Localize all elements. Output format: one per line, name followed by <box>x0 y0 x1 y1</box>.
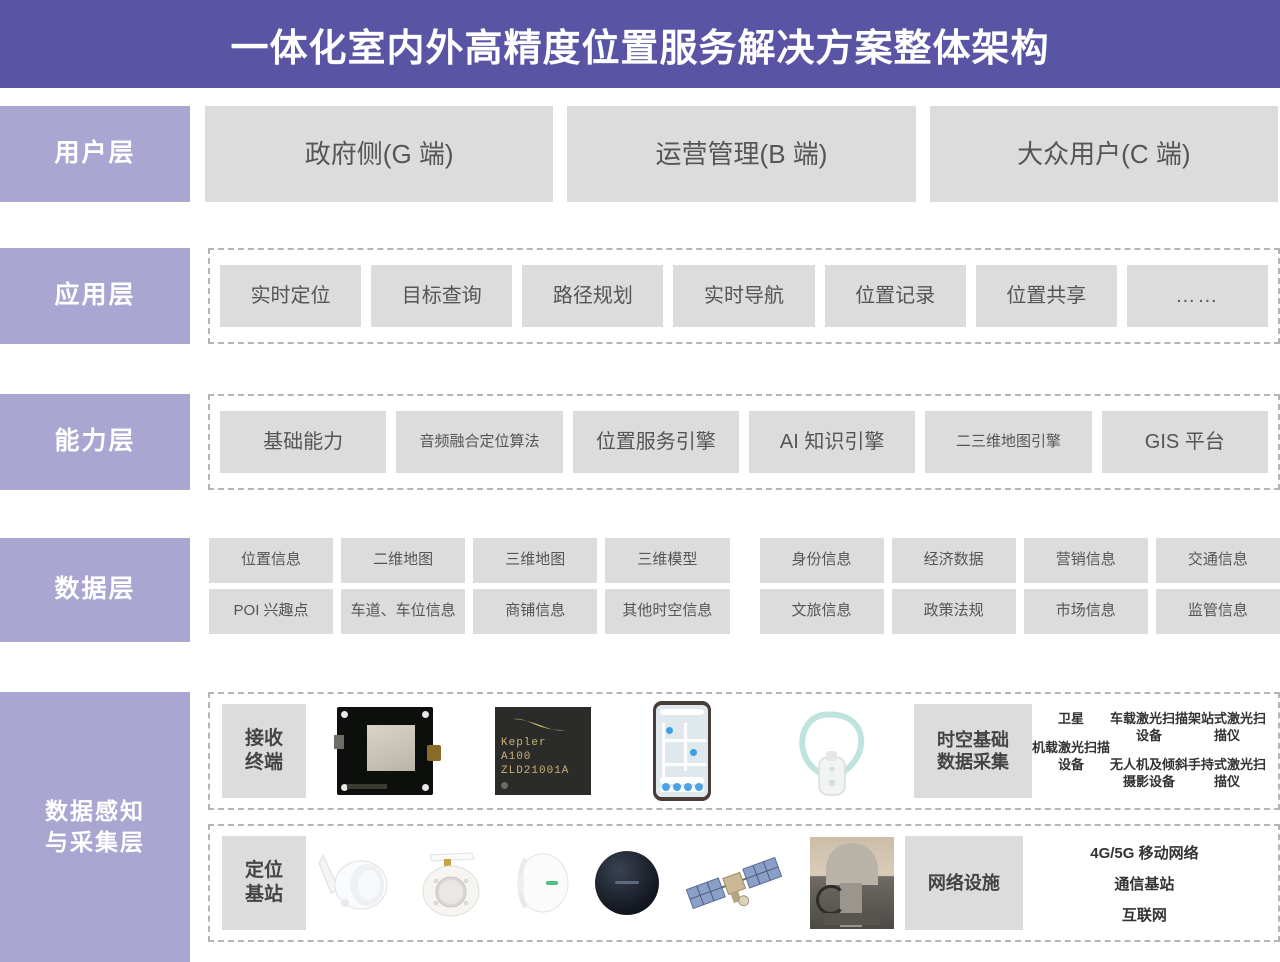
app-item-target-query[interactable]: 目标查询 <box>371 265 512 327</box>
network-facility-items: 4G/5G 移动网络 通信基站 互联网 <box>1023 842 1266 925</box>
cap-item-2d3d-map-engine[interactable]: 二三维地图引擎 <box>925 411 1091 473</box>
data-item-marketing-info[interactable]: 营销信息 <box>1024 538 1148 583</box>
user-layer-items: 政府侧(G 端) 运营管理(B 端) 大众用户(C 端) <box>190 106 1280 202</box>
uwb-antenna-base-station-icon <box>317 847 391 919</box>
layer-label-sensing-line1: 数据感知 <box>45 796 145 827</box>
sensing-band-terminal: 接收 终端 <box>208 692 1280 810</box>
collection-item-uav-oblique[interactable]: 无人机及倾斜摄影设备 <box>1110 757 1188 791</box>
sensing-band-basestation: 定位 基站 <box>208 824 1280 942</box>
data-item-other-spatiotemporal[interactable]: 其他时空信息 <box>605 589 729 634</box>
data-item-3d-model[interactable]: 三维模型 <box>605 538 729 583</box>
capability-items-group: 基础能力 音频融合定位算法 位置服务引擎 AI 知识引擎 二三维地图引擎 GIS… <box>208 394 1280 490</box>
data-item-shop-info[interactable]: 商铺信息 <box>473 589 597 634</box>
data-row-spatial-2: POI 兴趣点 车道、车位信息 商铺信息 其他时空信息 <box>209 589 730 634</box>
gnss-board-module-icon <box>337 707 433 795</box>
app-item-more[interactable]: …… <box>1127 265 1268 327</box>
lanyard-tag-device-icon <box>773 701 883 801</box>
data-group-spatial: 位置信息 二维地图 三维地图 三维模型 POI 兴趣点 车道、车位信息 商铺信息… <box>209 538 730 642</box>
data-item-poi[interactable]: POI 兴趣点 <box>209 589 333 634</box>
layer-label-application: 应用层 <box>0 248 190 344</box>
data-item-2d-map[interactable]: 二维地图 <box>341 538 465 583</box>
gnss-reference-station-photo-icon <box>810 837 894 929</box>
sensing-chip-spatiotemporal-collection[interactable]: 时空基础 数据采集 <box>914 704 1032 798</box>
user-item-government[interactable]: 政府侧(G 端) <box>205 106 553 202</box>
collection-item-handheld-lidar[interactable]: 手持式激光扫描仪 <box>1188 757 1266 791</box>
data-row-business-2: 文旅信息 政策法规 市场信息 监管信息 <box>760 589 1280 634</box>
data-item-supervision-info[interactable]: 监管信息 <box>1156 589 1280 634</box>
data-group-business: 身份信息 经济数据 营销信息 交通信息 文旅信息 政策法规 市场信息 监管信息 <box>760 538 1280 642</box>
app-item-route-planning[interactable]: 路径规划 <box>522 265 663 327</box>
kepler-chip-text-3: ZLD21001A <box>501 765 591 779</box>
application-layer-body: 实时定位 目标查询 路径规划 实时导航 位置记录 位置共享 …… <box>190 248 1280 344</box>
collection-item-vehicle-lidar[interactable]: 车载激光扫描设备 <box>1110 711 1188 745</box>
cap-item-location-service-engine[interactable]: 位置服务引擎 <box>573 411 739 473</box>
data-item-location-info[interactable]: 位置信息 <box>209 538 333 583</box>
network-item-mobile-network[interactable]: 4G/5G 移动网络 <box>1090 842 1198 863</box>
layer-label-sensing-line2: 与采集层 <box>45 827 145 858</box>
data-item-economic-data[interactable]: 经济数据 <box>892 538 1016 583</box>
layer-row-data: 数据层 位置信息 二维地图 三维地图 三维模型 POI 兴趣点 车道、车位信息 … <box>0 538 1280 642</box>
layer-label-sensing: 数据感知 与采集层 <box>0 692 190 962</box>
data-item-3d-map[interactable]: 三维地图 <box>473 538 597 583</box>
network-item-internet[interactable]: 互联网 <box>1122 904 1167 925</box>
collection-column-3: 架站式激光扫描仪 手持式激光扫描仪 <box>1188 711 1266 791</box>
positioning-basestation-line1: 定位 <box>245 859 283 883</box>
cap-item-basic-capability[interactable]: 基础能力 <box>220 411 386 473</box>
cap-item-gis-platform[interactable]: GIS 平台 <box>1102 411 1268 473</box>
page-header: 一体化室内外高精度位置服务解决方案整体架构 <box>0 0 1280 88</box>
receiver-terminal-line2: 终端 <box>245 751 283 775</box>
layer-row-sensing: 数据感知 与采集层 接收 终端 <box>0 692 1280 962</box>
basestation-images <box>306 834 905 932</box>
app-item-location-record[interactable]: 位置记录 <box>825 265 966 327</box>
data-item-lane-parking-info[interactable]: 车道、车位信息 <box>341 589 465 634</box>
layer-row-application: 应用层 实时定位 目标查询 路径规划 实时导航 位置记录 位置共享 …… <box>0 248 1280 344</box>
application-items-group: 实时定位 目标查询 路径规划 实时导航 位置记录 位置共享 …… <box>208 248 1280 344</box>
data-row-spatial-1: 位置信息 二维地图 三维地图 三维模型 <box>209 538 730 583</box>
sensing-chip-positioning-basestation[interactable]: 定位 基站 <box>222 836 306 930</box>
capability-layer-body: 基础能力 音频融合定位算法 位置服务引擎 AI 知识引擎 二三维地图引擎 GIS… <box>190 394 1280 490</box>
network-item-communication-base-station[interactable]: 通信基站 <box>1114 873 1174 894</box>
data-item-market-info[interactable]: 市场信息 <box>1024 589 1148 634</box>
spatiotemporal-collection-items: 卫星 机载激光扫描设备 车载激光扫描设备 无人机及倾斜摄影设备 架站式激光扫描仪… <box>1032 711 1266 791</box>
sensing-chip-receiver-terminal[interactable]: 接收 终端 <box>222 704 306 798</box>
layer-label-user: 用户层 <box>0 106 190 202</box>
data-row-business-1: 身份信息 经济数据 营销信息 交通信息 <box>760 538 1280 583</box>
data-layer-body: 位置信息 二维地图 三维地图 三维模型 POI 兴趣点 车道、车位信息 商铺信息… <box>190 538 1280 642</box>
spatiotemporal-collection-line2: 数据采集 <box>937 751 1009 774</box>
sensing-layer-body: 接收 终端 <box>190 692 1280 962</box>
collection-item-airborne-lidar[interactable]: 机载激光扫描设备 <box>1032 740 1110 774</box>
user-item-operations[interactable]: 运营管理(B 端) <box>567 106 915 202</box>
dark-dome-base-station-icon <box>595 851 659 915</box>
layer-label-capability: 能力层 <box>0 394 190 490</box>
kepler-logo-icon <box>511 715 567 735</box>
collection-item-tripod-lidar[interactable]: 架站式激光扫描仪 <box>1188 711 1266 745</box>
collection-column-1: 卫星 机载激光扫描设备 <box>1032 711 1110 774</box>
satellite-icon <box>681 847 787 919</box>
receiver-terminal-line1: 接收 <box>245 727 283 751</box>
collection-column-2: 车载激光扫描设备 无人机及倾斜摄影设备 <box>1110 711 1188 791</box>
spatiotemporal-collection-line1: 时空基础 <box>937 729 1009 752</box>
app-item-realtime-navigation[interactable]: 实时导航 <box>673 265 814 327</box>
kepler-chip-text-2: A100 <box>501 751 591 765</box>
smartphone-map-app-icon <box>653 701 711 801</box>
layer-row-capability: 能力层 基础能力 音频融合定位算法 位置服务引擎 AI 知识引擎 二三维地图引擎… <box>0 394 1280 490</box>
sensing-bands: 接收 终端 <box>190 692 1280 962</box>
cap-item-ai-knowledge-engine[interactable]: AI 知识引擎 <box>749 411 915 473</box>
data-item-policy-regulation[interactable]: 政策法规 <box>892 589 1016 634</box>
positioning-basestation-line2: 基站 <box>245 883 283 907</box>
collection-item-satellite[interactable]: 卫星 <box>1032 711 1110 728</box>
sensing-chip-network-facility[interactable]: 网络设施 <box>905 836 1023 930</box>
data-item-identity-info[interactable]: 身份信息 <box>760 538 884 583</box>
app-item-realtime-positioning[interactable]: 实时定位 <box>220 265 361 327</box>
kepler-chip-icon: Kepler A100 ZLD21001A <box>495 707 591 795</box>
layer-row-user: 用户层 政府侧(G 端) 运营管理(B 端) 大众用户(C 端) <box>0 106 1280 202</box>
layer-label-data: 数据层 <box>0 538 190 642</box>
oval-wall-base-station-icon <box>510 847 572 919</box>
data-item-culture-tourism-info[interactable]: 文旅信息 <box>760 589 884 634</box>
receiver-terminal-images: Kepler A100 ZLD21001A <box>306 702 914 800</box>
kepler-chip-text-1: Kepler <box>501 737 591 751</box>
user-item-consumer[interactable]: 大众用户(C 端) <box>930 106 1278 202</box>
ceiling-mount-base-station-icon <box>414 847 488 919</box>
cap-item-audio-fusion-algorithm[interactable]: 音频融合定位算法 <box>396 411 562 473</box>
app-item-location-sharing[interactable]: 位置共享 <box>976 265 1117 327</box>
page-title: 一体化室内外高精度位置服务解决方案整体架构 <box>230 17 1049 72</box>
data-item-traffic-info[interactable]: 交通信息 <box>1156 538 1280 583</box>
